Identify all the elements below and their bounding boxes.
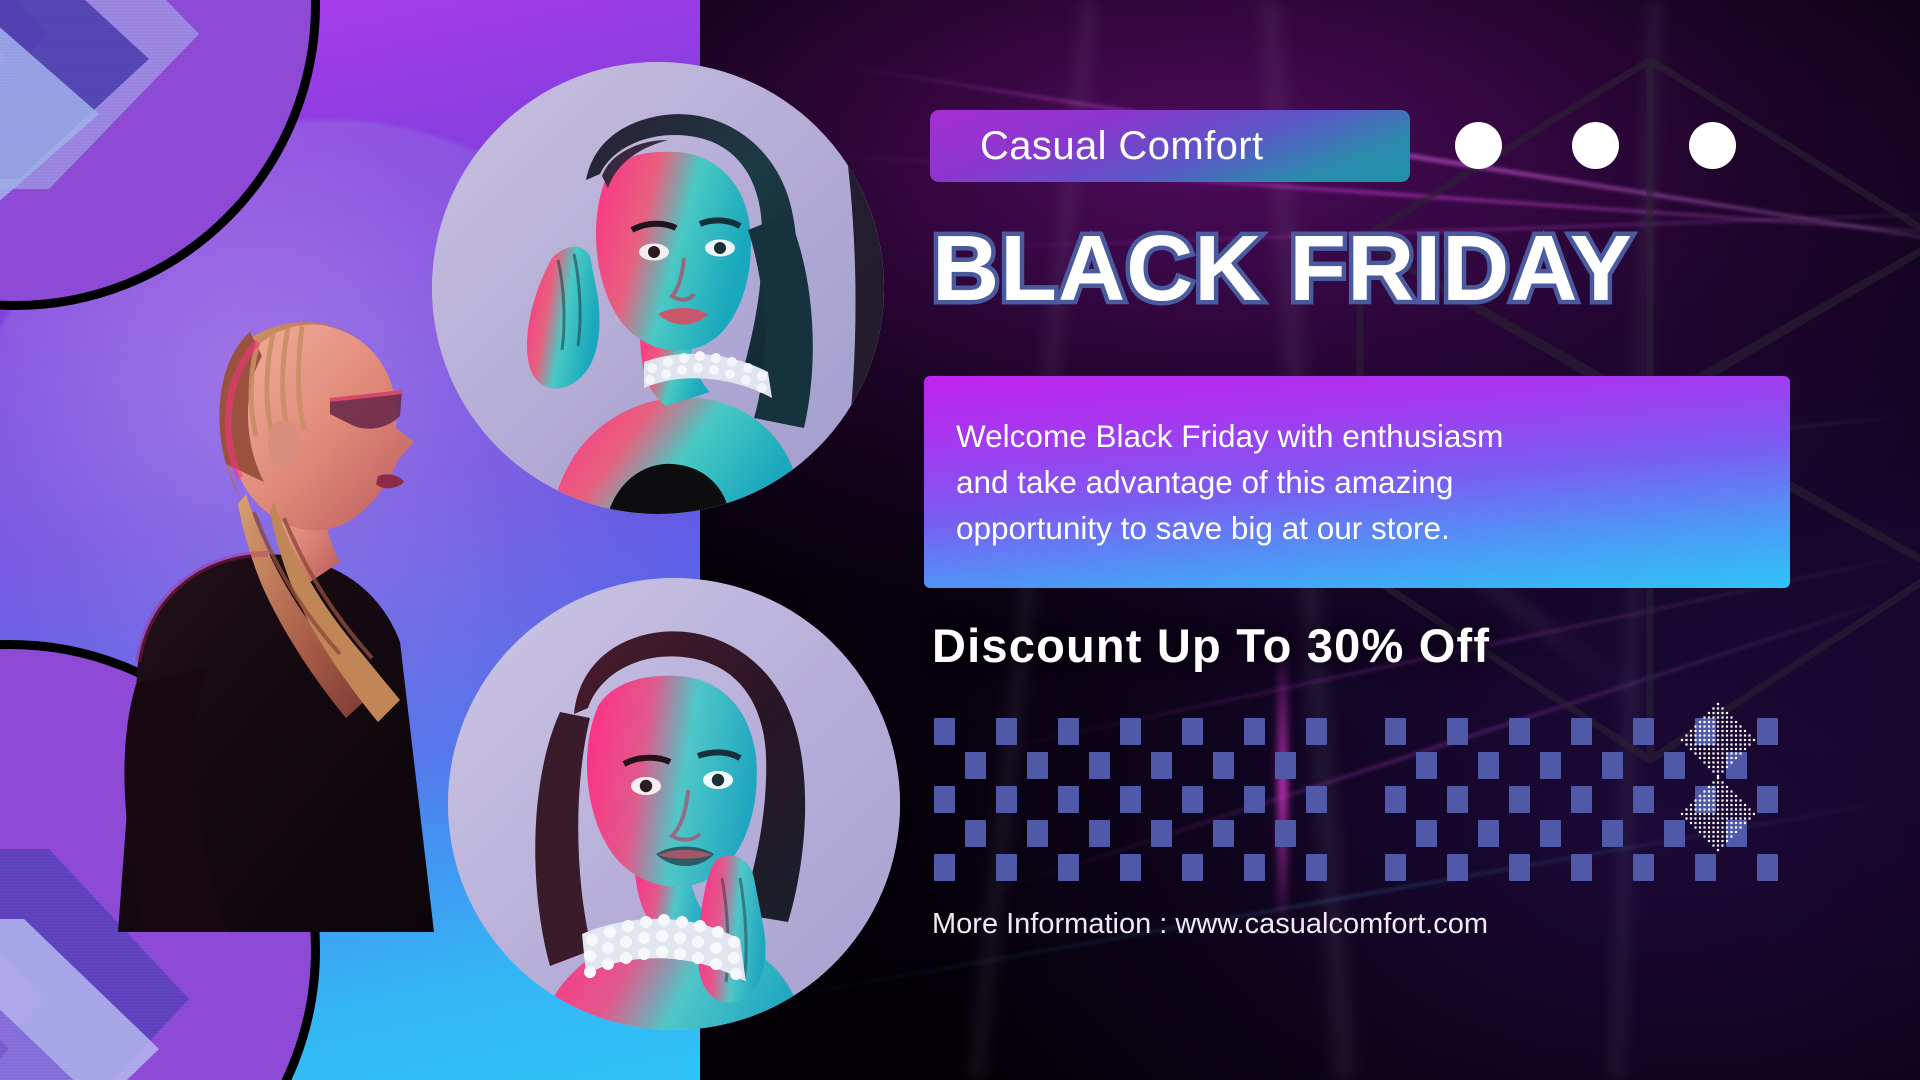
checker-gap [1182,820,1203,847]
checker-gap [1726,854,1747,881]
checker-square [1695,854,1716,881]
model-photo-circle-top [432,62,884,514]
checker-square [1027,752,1048,779]
checker-square [1275,752,1296,779]
checker-gap [1058,752,1079,779]
checker-gap [1306,820,1327,847]
brand-badge-label: Casual Comfort [930,124,1263,169]
circle-dot-icon [1689,122,1736,169]
checker-gap [1509,752,1530,779]
checker-gap [1478,786,1499,813]
discount-headline: Discount Up To 30% Off [932,618,1792,673]
checker-gap [996,820,1017,847]
checker-square [1416,820,1437,847]
checker-gap [1151,786,1172,813]
checker-gap [996,752,1017,779]
checker-square [1120,718,1141,745]
checker-square [1757,854,1778,881]
checker-square [1182,718,1203,745]
checker-square [1633,786,1654,813]
checker-gap [1213,718,1234,745]
checker-gap [1089,854,1110,881]
checker-square [1275,820,1296,847]
checker-square [1385,718,1406,745]
checker-square [1244,854,1265,881]
dot-indicator-group [1455,122,1736,169]
checker-square [1058,718,1079,745]
checker-gap [1664,854,1685,881]
checker-gap [1416,718,1437,745]
checker-square [996,786,1017,813]
checker-gap [1027,718,1048,745]
checker-square [1633,718,1654,745]
checker-square [1602,752,1623,779]
checker-gap [1633,752,1654,779]
checker-gap [1447,752,1468,779]
checker-gap [1478,854,1499,881]
checker-gap [934,820,955,847]
checker-gap [965,718,986,745]
checker-gap [1602,854,1623,881]
description-line-2: and take advantage of this amazing [956,459,1503,505]
checker-gap [1275,786,1296,813]
description-line-3: opportunity to save big at our store. [956,505,1503,551]
checker-square [1213,752,1234,779]
checker-gap [1213,786,1234,813]
checker-gap [1244,820,1265,847]
checker-square [1244,786,1265,813]
checker-gap [1447,820,1468,847]
checker-square [1385,786,1406,813]
checker-square [1571,786,1592,813]
circle-dot-icon [1572,122,1619,169]
checker-square [1306,854,1327,881]
checker-square [1447,854,1468,881]
checker-square [1306,786,1327,813]
checker-square [1058,854,1079,881]
checker-gap [1027,854,1048,881]
description-text: Welcome Black Friday with enthusiasm and… [924,413,1527,552]
page-title: BLACK FRIDAY [932,222,1792,315]
circle-dot-icon [1455,122,1502,169]
checker-square [1058,786,1079,813]
content-column: Casual Comfort BLACK FRIDAY Welcome Blac… [930,0,1790,1080]
checker-square [934,786,955,813]
checker-gap [1385,752,1406,779]
checker-square [1027,820,1048,847]
checker-gap [1027,786,1048,813]
checker-square [1151,752,1172,779]
checker-square [1571,854,1592,881]
checker-square [1089,752,1110,779]
checker-gap [1571,820,1592,847]
checker-square [1089,820,1110,847]
checker-square [1416,752,1437,779]
checker-square [1602,820,1623,847]
checker-gap [1385,820,1406,847]
checker-gap [1602,718,1623,745]
description-box: Welcome Black Friday with enthusiasm and… [924,376,1790,588]
more-information-text: More Information : www.casualcomfort.com [932,908,1792,941]
checker-square [1447,786,1468,813]
checker-square [1213,820,1234,847]
checker-gap [1540,786,1561,813]
checker-square [934,854,955,881]
checker-square [1633,854,1654,881]
checker-square [1571,718,1592,745]
checker-square [1244,718,1265,745]
checker-gap [1058,820,1079,847]
checker-gap [1571,752,1592,779]
diamond-dots-icon [1670,702,1766,852]
checker-gap [1089,786,1110,813]
checker-square [1120,854,1141,881]
checker-gap [1244,752,1265,779]
checker-square [1540,820,1561,847]
checker-gap [1540,854,1561,881]
checker-square [1509,854,1530,881]
checker-square [1509,718,1530,745]
checker-square [1151,820,1172,847]
checker-gap [1509,820,1530,847]
checker-square [996,718,1017,745]
checker-gap [1275,854,1296,881]
checker-gap [1540,718,1561,745]
checker-gap [1602,786,1623,813]
checker-gap [965,854,986,881]
brand-badge[interactable]: Casual Comfort [930,110,1410,182]
checker-gap [1633,820,1654,847]
checker-square [1385,854,1406,881]
checker-gap [1151,854,1172,881]
checker-square [996,854,1017,881]
checker-square [965,820,986,847]
checker-square [965,752,986,779]
checker-square [1478,820,1499,847]
checker-gap [1416,854,1437,881]
description-line-1: Welcome Black Friday with enthusiasm [956,413,1503,459]
checker-square [1478,752,1499,779]
checker-square [1306,718,1327,745]
checker-gap [1182,752,1203,779]
black-friday-banner: Casual Comfort BLACK FRIDAY Welcome Blac… [0,0,1920,1080]
checker-gap [1089,718,1110,745]
checker-gap [1306,752,1327,779]
checker-square [1447,718,1468,745]
checker-gap [1120,752,1141,779]
checker-gap [1120,820,1141,847]
checker-square [1540,752,1561,779]
checker-square [934,718,955,745]
checker-gap [1213,854,1234,881]
checker-gap [934,752,955,779]
checker-gap [1478,718,1499,745]
checker-pattern-icon [934,718,1327,881]
checker-gap [1416,786,1437,813]
checker-gap [965,786,986,813]
model-photo-circle-bottom [448,578,900,1030]
checker-square [1182,854,1203,881]
checker-gap [1151,718,1172,745]
checker-pattern-group [934,718,1778,881]
checker-square [1182,786,1203,813]
checker-gap [1275,718,1296,745]
checker-square [1120,786,1141,813]
checker-square [1509,786,1530,813]
